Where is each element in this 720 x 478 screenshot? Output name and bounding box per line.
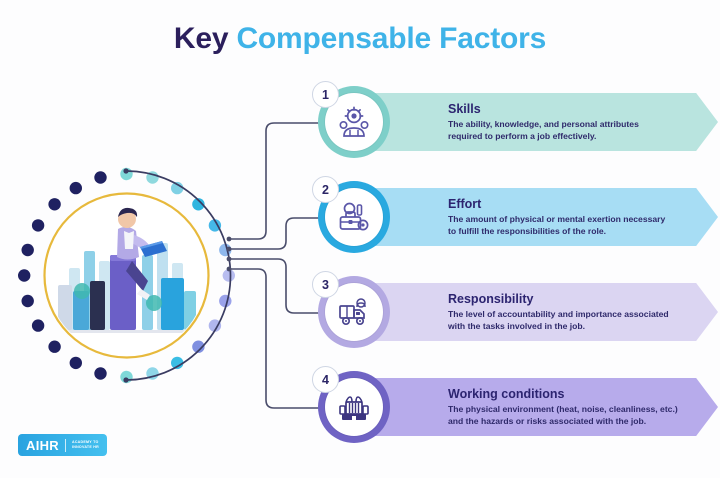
logo-tagline: ACADEMY TO INNOVATE HR xyxy=(72,440,99,450)
factor-title-1: Skills xyxy=(448,102,700,117)
factor-banner-3: Responsibility The level of accountabili… xyxy=(354,283,718,341)
factor-desc-1-line1: The ability, knowledge, and personal att… xyxy=(448,119,700,130)
factor-desc-3: The level of accountability and importan… xyxy=(448,309,700,332)
factor-title-3: Responsibility xyxy=(448,292,700,307)
logo-tagline-line2: INNOVATE HR xyxy=(72,445,99,450)
factor-title-4: Working conditions xyxy=(448,387,700,402)
hero-illustration xyxy=(14,163,239,388)
factor-desc-2-line1: The amount of physical or mental exertio… xyxy=(448,214,700,225)
effort-toolbox-gear-icon xyxy=(337,200,371,234)
factor-desc-2-line2: to fulfill the responsibilities of the r… xyxy=(448,226,700,237)
connector-1 xyxy=(230,123,322,239)
title-part-rest: Compensable Factors xyxy=(236,22,546,55)
factor-number-1: 1 xyxy=(312,81,339,108)
title-part-key: Key xyxy=(174,22,228,55)
factor-title-2: Effort xyxy=(448,197,700,212)
factor-number-2: 2 xyxy=(312,176,339,203)
factor-desc-4-line2: and the hazards or risks associated with… xyxy=(448,416,700,427)
factor-desc-4-line1: The physical environment (heat, noise, c… xyxy=(448,404,700,415)
responsibility-cargo-truck-icon xyxy=(337,295,371,329)
factor-icon-wrap-4[interactable]: 4 xyxy=(318,371,390,443)
factor-desc-4: The physical environment (heat, noise, c… xyxy=(448,404,700,427)
factor-desc-2: The amount of physical or mental exertio… xyxy=(448,214,700,237)
aihr-logo[interactable]: AIHR ACADEMY TO INNOVATE HR xyxy=(18,434,107,456)
connector-2 xyxy=(230,218,322,249)
factor-desc-3-line1: The level of accountability and importan… xyxy=(448,309,700,320)
factor-icon-wrap-3[interactable]: 3 xyxy=(318,276,390,348)
illustration-svg xyxy=(14,163,239,388)
factor-number-4: 4 xyxy=(312,366,339,393)
factor-number-3: 3 xyxy=(312,271,339,298)
logo-wordmark: AIHR xyxy=(26,438,59,453)
factor-banner-4: Working conditions The physical environm… xyxy=(354,378,718,436)
connector-4 xyxy=(230,269,322,408)
infographic-page: Key Compensable Factors xyxy=(0,0,720,478)
factor-desc-1: The ability, knowledge, and personal att… xyxy=(448,119,700,142)
connector-3 xyxy=(230,259,322,313)
factor-icon-wrap-1[interactable]: 1 xyxy=(318,86,390,158)
factor-banner-1: Skills The ability, knowledge, and perso… xyxy=(354,93,718,151)
factor-desc-3-line2: with the tasks involved in the job. xyxy=(448,321,700,332)
factor-banner-2: Effort The amount of physical or mental … xyxy=(354,188,718,246)
page-title: Key Compensable Factors xyxy=(0,22,720,56)
factor-icon-wrap-2[interactable]: 2 xyxy=(318,181,390,253)
factor-desc-1-line2: required to perform a job effectively. xyxy=(448,131,700,142)
skills-gear-person-icon xyxy=(337,105,371,139)
working-conditions-factory-icon xyxy=(337,390,371,424)
logo-divider xyxy=(65,439,66,452)
